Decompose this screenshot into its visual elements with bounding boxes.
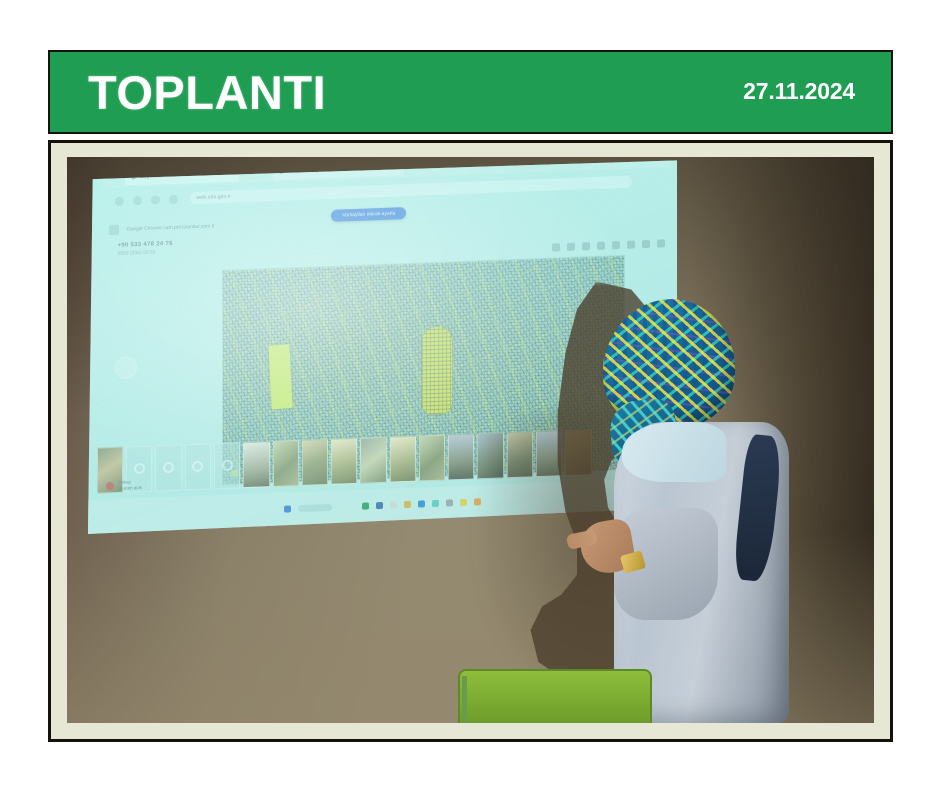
store-icon[interactable]: [404, 501, 411, 508]
slide: TOPLANTI 27.11.2024 – ◻ ✕: [48, 50, 893, 742]
info-icon[interactable]: [642, 240, 650, 248]
loading-spinner-icon: [192, 462, 203, 473]
search-input[interactable]: [298, 504, 332, 512]
account-status: Oturum acik: [118, 485, 142, 491]
contact-subtext: 0850 (206) 50 60: [117, 249, 172, 257]
slide-header-banner: TOPLANTI 27.11.2024: [48, 50, 893, 134]
set-default-button[interactable]: Varsayilan olarak ayarla: [331, 207, 406, 222]
search-icon[interactable]: [597, 242, 605, 250]
highlighted-parcel[interactable]: [268, 345, 293, 411]
reload-icon[interactable]: [150, 195, 159, 204]
word-icon[interactable]: [446, 500, 453, 507]
meeting-photo: – ◻ ✕ Uygulama Harita - Google Earth: [67, 157, 874, 723]
shield-icon: [109, 225, 119, 235]
mail-icon[interactable]: [390, 502, 397, 509]
highlighted-parcel[interactable]: [422, 326, 452, 414]
edge-icon[interactable]: [362, 503, 369, 510]
avatar: [106, 482, 114, 490]
loading-spinner-icon: [222, 460, 233, 471]
chair-leg: [462, 676, 467, 723]
info-bar-text: Google Chrome cam.pol.istanbul.com.tr: [127, 223, 215, 232]
fullscreen-icon[interactable]: [627, 241, 635, 249]
forward-icon[interactable]: [132, 196, 141, 205]
notes-icon[interactable]: [460, 499, 467, 506]
list-item[interactable]: [243, 441, 269, 489]
list-item[interactable]: [360, 437, 386, 485]
loading-spinner-icon: [163, 463, 174, 474]
teams-icon[interactable]: [432, 500, 439, 507]
windows-start-icon[interactable]: [284, 506, 291, 513]
taskbar-divider: [339, 507, 355, 508]
list-item[interactable]: [390, 436, 416, 484]
measure-icon[interactable]: [567, 243, 575, 251]
map-toolbar: [552, 240, 665, 252]
list-item[interactable]: [272, 440, 298, 488]
draw-icon[interactable]: [612, 241, 620, 249]
loading-spinner-icon: [134, 464, 145, 475]
list-item[interactable]: [331, 438, 357, 486]
slide-date: 27.11.2024: [743, 78, 855, 107]
back-icon[interactable]: [114, 197, 123, 206]
account-indicator[interactable]: Yilmaz Oturum acik: [106, 479, 142, 493]
chrome-icon[interactable]: [418, 501, 425, 508]
pin-icon[interactable]: [582, 242, 590, 250]
layers-icon[interactable]: [552, 244, 560, 252]
explorer-icon[interactable]: [376, 503, 383, 510]
photo-frame: – ◻ ✕ Uygulama Harita - Google Earth: [48, 140, 893, 742]
contact-block: +90 533 478 24 76 0850 (206) 50 60: [117, 241, 172, 257]
green-chair: [458, 669, 652, 723]
list-item[interactable]: [214, 442, 240, 490]
list-item[interactable]: [419, 435, 445, 483]
chair-backrest: [458, 669, 652, 723]
contact-phone: +90 533 478 24 76: [117, 241, 172, 249]
list-item[interactable]: [185, 443, 211, 491]
home-icon[interactable]: [168, 195, 177, 204]
page-title: TOPLANTI: [88, 69, 326, 116]
speaker-person: [575, 293, 849, 723]
settings-icon[interactable]: [657, 240, 665, 248]
prev-arrow-icon[interactable]: [114, 357, 136, 380]
list-item[interactable]: [302, 439, 328, 487]
shoulder-highlight: [622, 422, 726, 482]
list-item[interactable]: [155, 445, 181, 493]
account-name: Yilmaz: [118, 479, 131, 485]
